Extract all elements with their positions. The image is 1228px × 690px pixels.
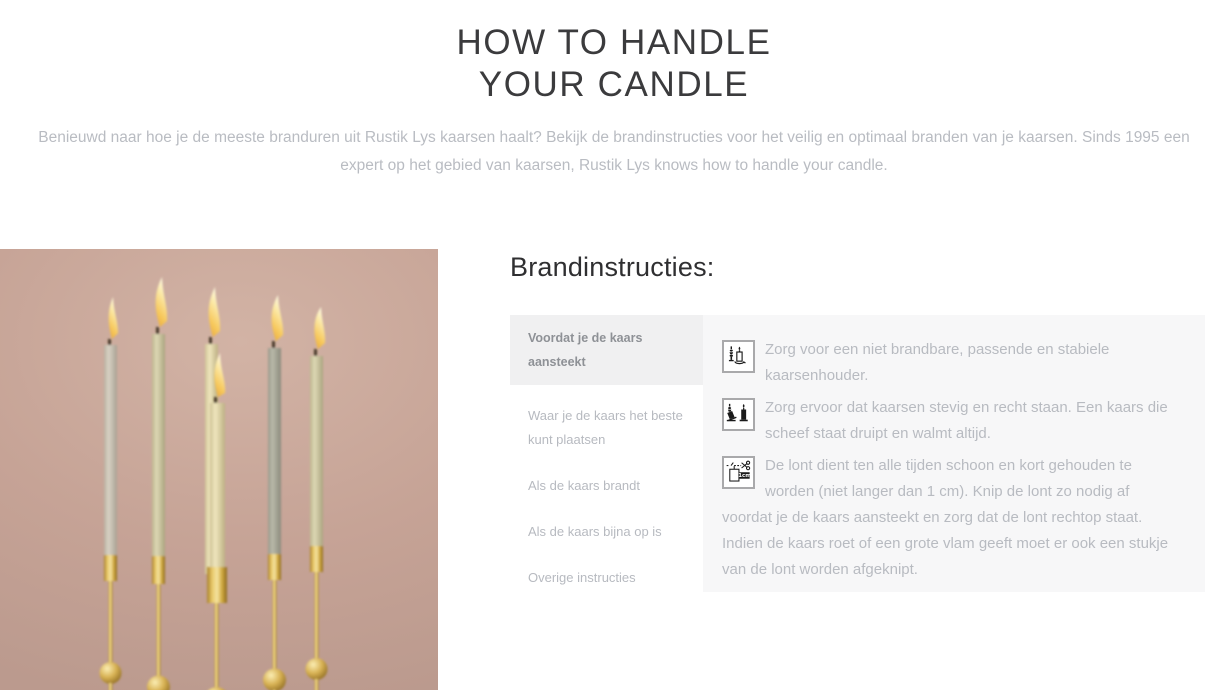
candle-holder-icon-glyph — [722, 340, 755, 373]
instruction-item: Zorg voor een niet brandbare, passende e… — [722, 337, 1181, 389]
instruction-item: 1cm De lont dient ten alle tijden schoon… — [722, 453, 1181, 583]
candle-holder-icon — [722, 340, 755, 373]
tab-label: Als de kaars bijna op is — [528, 524, 662, 539]
tab-als-de-kaars-bijna-op-is[interactable]: Als de kaars bijna op is — [510, 509, 703, 555]
instructions-tab-content: Zorg voor een niet brandbare, passende e… — [703, 315, 1205, 592]
tab-label: Voordat je de kaars aansteekt — [528, 331, 642, 369]
tab-label: Als de kaars brandt — [528, 478, 640, 493]
page-root: HOW TO HANDLE YOUR CANDLE Benieuwd naar … — [0, 22, 1228, 690]
candle-upright-icon-glyph — [722, 398, 755, 431]
wick-length-label: 1cm — [738, 473, 751, 479]
tab-label: Overige instructies — [528, 570, 636, 585]
tab-voordat-je-de-kaars-aansteekt[interactable]: Voordat je de kaars aansteekt — [510, 315, 703, 385]
page-title-line-1: HOW TO HANDLE — [40, 22, 1188, 64]
instructions-heading: Brandinstructies: — [510, 249, 1205, 283]
tab-spacer — [510, 385, 703, 393]
instructions-panel: Voordat je de kaars aansteekt Waar je de… — [510, 315, 1205, 592]
tab-als-de-kaars-brandt[interactable]: Als de kaars brandt — [510, 463, 703, 509]
tab-overige-instructies[interactable]: Overige instructies — [510, 555, 703, 601]
instructions-column: Brandinstructies: — [510, 249, 1205, 283]
trim-wick-scissors-icon-glyph: 1cm — [722, 456, 755, 489]
candle-photo — [0, 249, 438, 690]
tab-label: Waar je de kaars het beste kunt plaatsen — [528, 408, 683, 447]
instruction-text: Zorg ervoor dat kaarsen stevig en recht … — [765, 399, 1168, 442]
instruction-text: Zorg voor een niet brandbare, passende e… — [765, 341, 1109, 384]
instruction-item: Zorg ervoor dat kaarsen stevig en recht … — [722, 395, 1181, 447]
trim-wick-scissors-icon: 1cm — [722, 456, 755, 489]
instruction-text: De lont dient ten alle tijden schoon en … — [722, 457, 1168, 578]
instructions-tab-list: Voordat je de kaars aansteekt Waar je de… — [510, 315, 703, 592]
candle-upright-icon — [722, 398, 755, 431]
page-intro-paragraph: Benieuwd naar hoe je de meeste branduren… — [16, 124, 1212, 180]
page-title: HOW TO HANDLE YOUR CANDLE — [0, 22, 1228, 106]
tab-waar-je-de-kaars-het-beste-kunt-plaatsen[interactable]: Waar je de kaars het beste kunt plaatsen — [510, 393, 703, 463]
photo-candles-illustration — [0, 249, 438, 690]
page-title-line-2: YOUR CANDLE — [40, 64, 1188, 106]
